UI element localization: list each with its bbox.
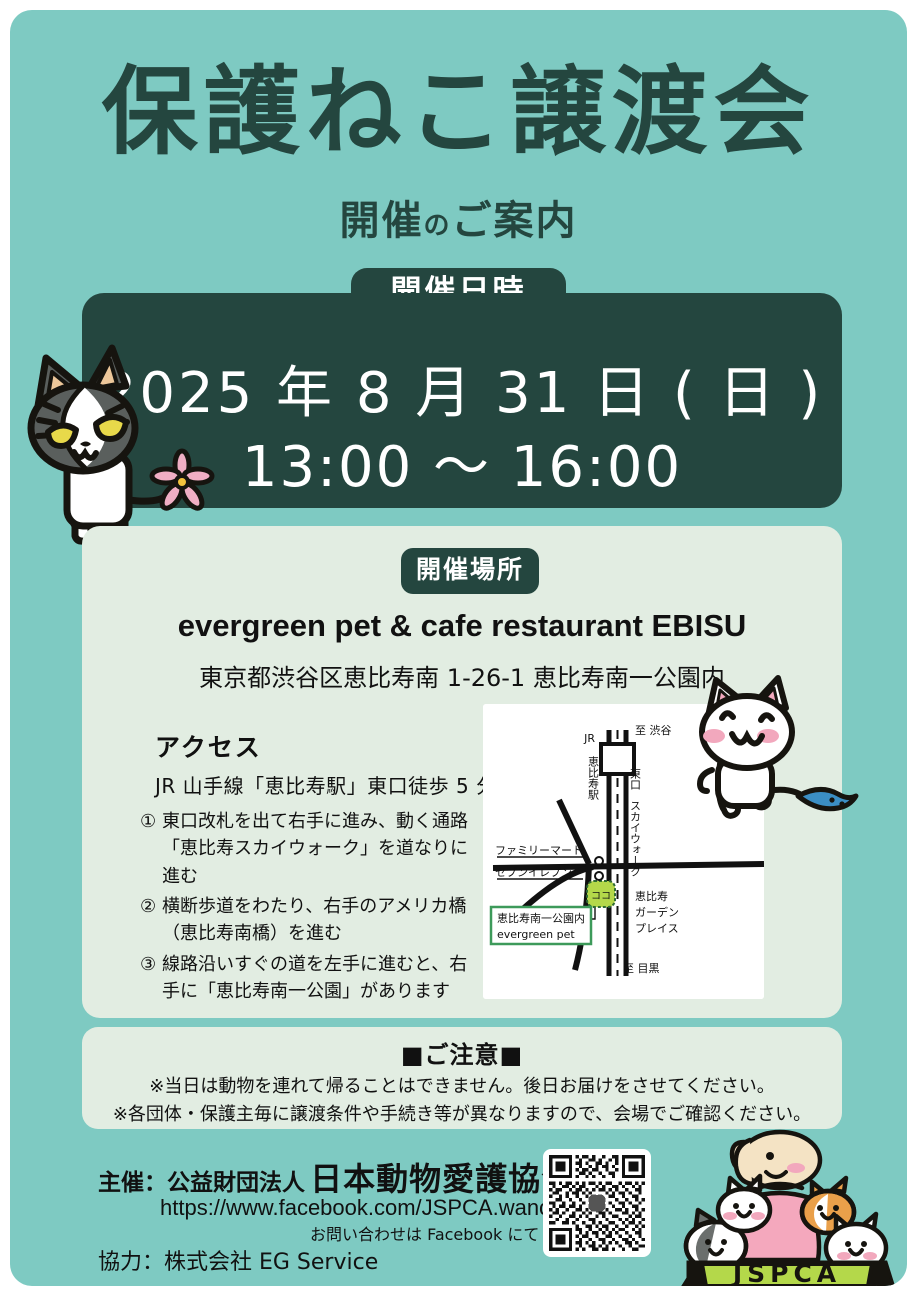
subtitle-main: 開催 <box>339 198 423 244</box>
step-text: 東口改札を出て右手に進み、動く通路「恵比寿スカイウォーク」を道なりに進む <box>162 808 485 890</box>
blue-fish-icon <box>798 789 856 808</box>
jspca-logo: JSPCA ©BON/BONS <box>662 1128 907 1286</box>
page-title: 保護ねこ譲渡会 <box>10 62 907 163</box>
subtitle-particle: の <box>423 211 451 241</box>
notice-line: ※当日は動物を連れて帰ることはできません。後日お届けをさせてください。 <box>82 1072 842 1098</box>
access-step: ① 東口改札を出て右手に進み、動く通路「恵比寿スカイウォーク」を道なりに進む <box>140 808 485 890</box>
facebook-qr-code[interactable] <box>543 1149 651 1257</box>
facebook-url[interactable]: https://www.facebook.com/JSPCA.wanco/ <box>160 1195 568 1221</box>
contact-note: お問い合わせは Facebook にて <box>310 1221 539 1245</box>
step-number: ① <box>140 808 162 890</box>
gray-tabby-cat-illustration <box>14 332 229 547</box>
map-label-familymart: ファミリーマート <box>495 844 583 857</box>
organizer-prefix: 主催：公益財団法人 <box>98 1170 305 1196</box>
qr-code-graphic <box>549 1155 645 1251</box>
logo-banner-text: JSPCA <box>731 1259 841 1286</box>
map-label-garden-3: プレイス <box>635 922 679 935</box>
map-label-to-meguro: 至 目黒 <box>623 962 660 975</box>
map-label-skywalk: スカイウォーク <box>629 800 642 877</box>
white-cat-illustration <box>682 672 877 832</box>
subtitle-rest: ご案内 <box>452 198 578 244</box>
map-callout-line1: 恵比寿南一公園内 <box>497 911 585 925</box>
venue-tab: 開催場所 <box>401 548 539 594</box>
map-label-station-jr: JR <box>583 732 595 745</box>
map-label-station: 恵比寿駅 <box>587 755 600 801</box>
map-here-label: ココ <box>591 891 611 902</box>
page-subtitle: 開催のご案内 <box>10 188 907 246</box>
access-steps-list: ① 東口改札を出て右手に進み、動く通路「恵比寿スカイウォーク」を道なりに進む ②… <box>140 808 485 1009</box>
map-label-garden-1: 恵比寿 <box>635 889 668 903</box>
access-step: ③ 線路沿いすぐの道を左手に進むと、右手に「恵比寿南一公園」があります <box>140 951 485 1006</box>
step-text: 線路沿いすぐの道を左手に進むと、右手に「恵比寿南一公園」があります <box>162 951 485 1006</box>
step-text: 横断歩道をわたり、右手のアメリカ橋（恵比寿南橋）を進む <box>162 893 485 948</box>
notice-line: ※各団体・保護主毎に譲渡条件や手続き等が異なりますので、会場でご確認ください。 <box>82 1100 842 1126</box>
map-callout-line2: evergreen pet <box>497 928 575 941</box>
venue-tab-label: 開催場所 <box>401 548 539 592</box>
access-summary: JR 山手線「恵比寿駅」東口徒歩 5 分 <box>155 770 497 799</box>
map-label-east-exit: 東口 <box>629 768 642 790</box>
access-step: ② 横断歩道をわたり、右手のアメリカ橋（恵比寿南橋）を進む <box>140 893 485 948</box>
organizer-line: 主催：公益財団法人 日本動物愛護協会 <box>98 1154 574 1200</box>
notice-title: ■ご注意■ <box>82 1035 842 1070</box>
cooperation-line: 協力：株式会社 EG Service <box>98 1244 378 1276</box>
map-label-to-shibuya: 至 渋谷 <box>635 724 672 737</box>
step-number: ③ <box>140 951 162 1006</box>
step-number: ② <box>140 893 162 948</box>
map-label-seveneleven: セブンイレブン <box>495 865 572 879</box>
map-label-garden-2: ガーデン <box>635 905 679 919</box>
poster-root: 保護ねこ譲渡会 開催のご案内 開催日時 2025 年 8 月 31 日 ( 日 … <box>10 10 907 1286</box>
qr-center-clover-icon <box>588 1194 605 1212</box>
organizer-name: 日本動物愛護協会 <box>310 1160 574 1198</box>
venue-name: evergreen pet & cafe restaurant EBISU <box>82 608 842 644</box>
access-heading: アクセス <box>155 728 262 764</box>
